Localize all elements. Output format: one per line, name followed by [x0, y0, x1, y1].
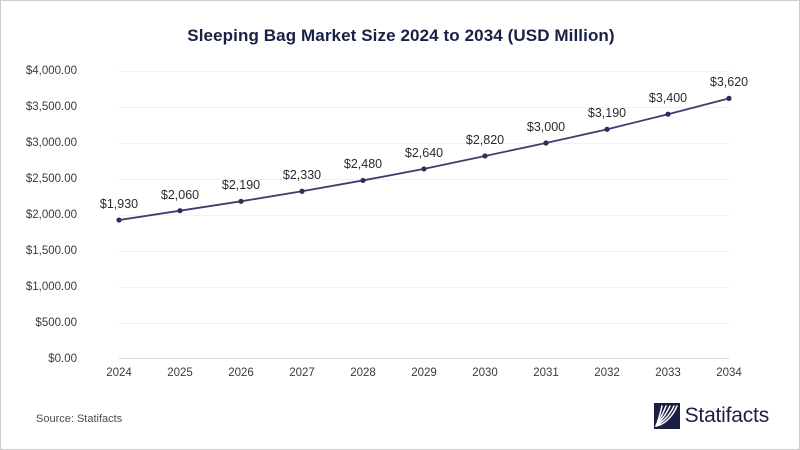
- x-axis-tick-label: 2028: [333, 367, 393, 379]
- x-axis-tick-label: 2024: [89, 367, 149, 379]
- x-axis-tick-label: 2026: [211, 367, 271, 379]
- x-axis-tick-label: 2032: [577, 367, 637, 379]
- x-axis-tick-label: 2030: [455, 367, 515, 379]
- data-point-label: $2,190: [222, 178, 260, 192]
- data-point-label: $3,400: [649, 91, 687, 105]
- gridline: [119, 215, 729, 216]
- gridline: [119, 179, 729, 180]
- gridline: [119, 143, 729, 144]
- y-axis-tick-label: $4,000.00: [0, 65, 77, 77]
- data-point-label: $3,620: [710, 75, 748, 89]
- x-axis-line: [119, 358, 729, 359]
- gridline: [119, 107, 729, 108]
- x-axis-tick-label: 2034: [699, 367, 759, 379]
- x-axis-tick-label: 2025: [150, 367, 210, 379]
- x-axis-tick-label: 2027: [272, 367, 332, 379]
- brand-logo: Statifacts: [654, 403, 769, 429]
- x-axis-tick-label: 2033: [638, 367, 698, 379]
- data-point-label: $2,820: [466, 133, 504, 147]
- y-axis-tick-label: $3,500.00: [0, 101, 77, 113]
- data-point-label: $1,930: [100, 197, 138, 211]
- gridline: [119, 323, 729, 324]
- y-axis-tick-label: $2,500.00: [0, 173, 77, 185]
- source-note: Source: Statifacts: [36, 413, 122, 425]
- y-axis-tick-label: $0.00: [0, 353, 77, 365]
- data-point-label: $3,190: [588, 106, 626, 120]
- data-point-label: $2,330: [283, 168, 321, 182]
- x-axis-tick-label: 2031: [516, 367, 576, 379]
- gridline: [119, 287, 729, 288]
- y-axis-tick-label: $500.00: [0, 317, 77, 329]
- data-point-label: $2,480: [344, 157, 382, 171]
- y-axis-tick-label: $2,000.00: [0, 209, 77, 221]
- y-axis-tick-label: $1,500.00: [0, 245, 77, 257]
- data-point-label: $2,640: [405, 146, 443, 160]
- chart-canvas: Sleeping Bag Market Size 2024 to 2034 (U…: [0, 0, 800, 450]
- brand-name: Statifacts: [685, 403, 769, 429]
- y-axis-tick-label: $3,000.00: [0, 137, 77, 149]
- data-point-label: $2,060: [161, 188, 199, 202]
- x-axis-tick-label: 2029: [394, 367, 454, 379]
- page-title: Sleeping Bag Market Size 2024 to 2034 (U…: [1, 26, 800, 46]
- gridline: [119, 71, 729, 72]
- y-axis-tick-label: $1,000.00: [0, 281, 77, 293]
- plot-area: [119, 71, 729, 359]
- gridline: [119, 251, 729, 252]
- data-point-label: $3,000: [527, 120, 565, 134]
- statifacts-fan-logo-icon: [654, 403, 680, 429]
